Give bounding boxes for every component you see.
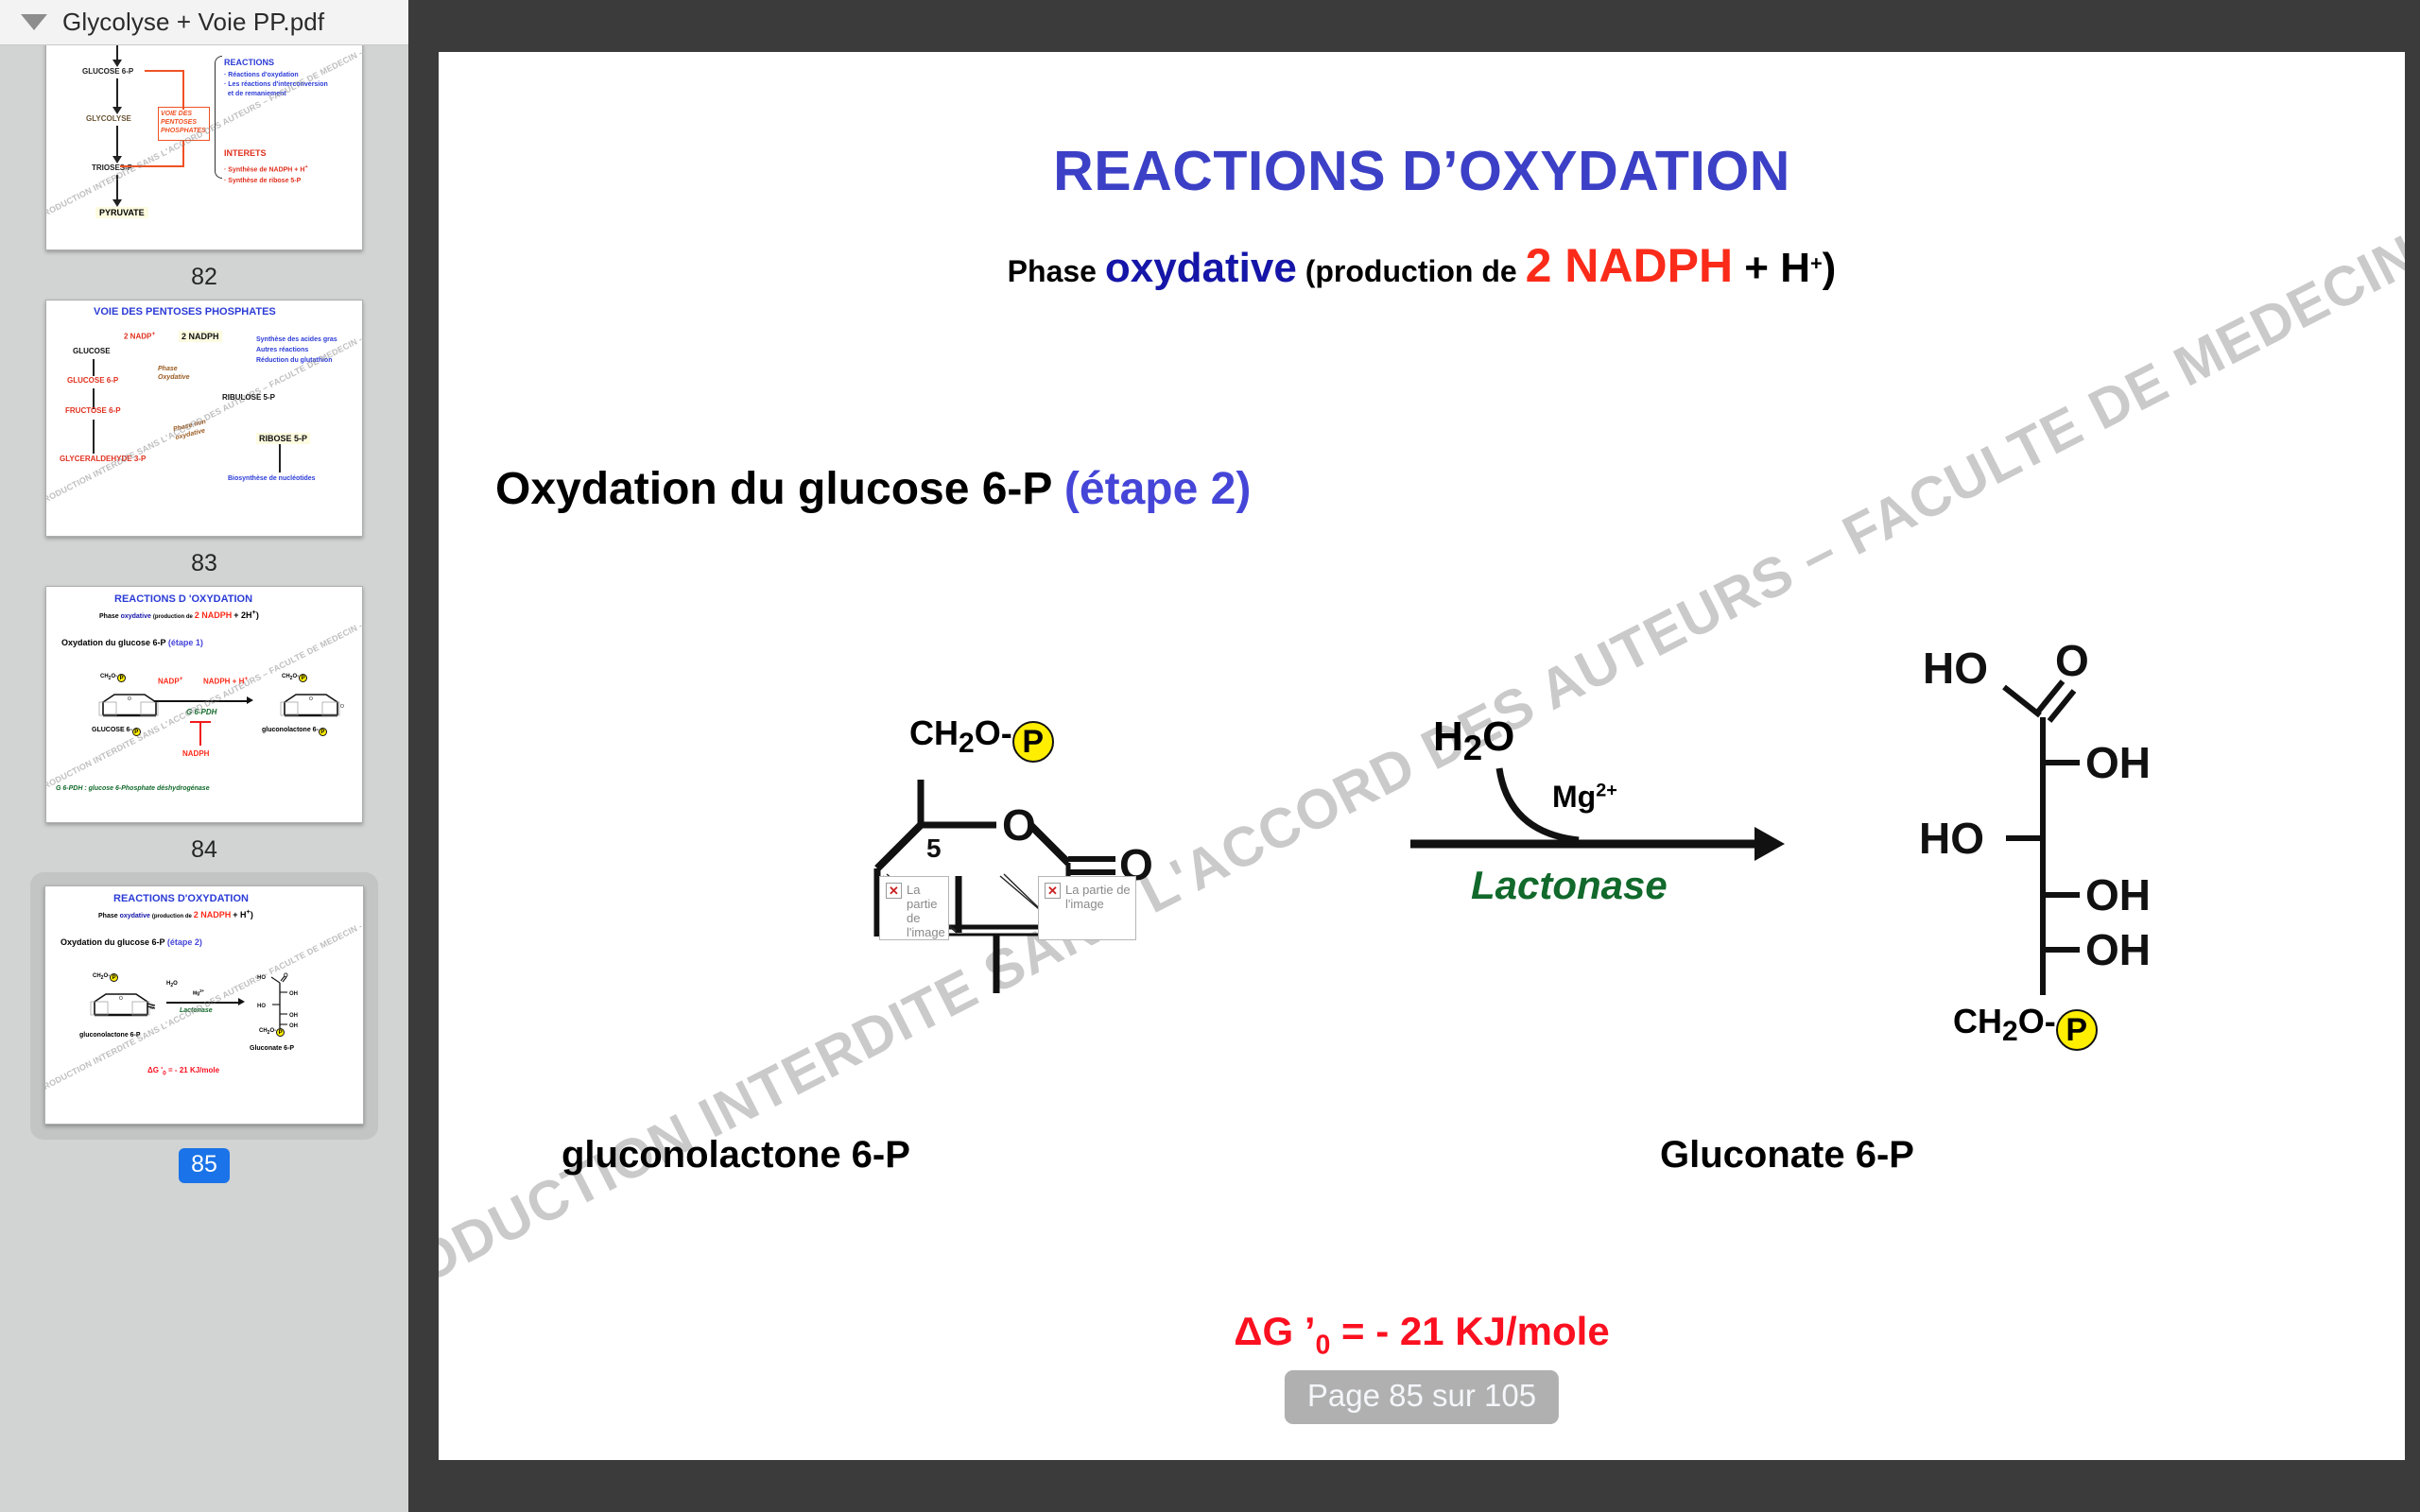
triangle-down-icon[interactable] — [21, 14, 47, 30]
svg-text:HO: HO — [257, 975, 266, 981]
ch2o-phosphate-label-left: CH2O-P — [909, 713, 1054, 763]
enzyme-label: Lactonase — [1471, 863, 1668, 908]
caption-gluconolactone: gluconolactone 6-P — [562, 1134, 910, 1177]
svg-text:O: O — [128, 696, 131, 702]
svg-text:O: O — [119, 996, 123, 1002]
mini-slide-83: VOIE DES PENTOSES PHOSPHATES 2 NADP+ 2 N… — [46, 301, 362, 536]
thumbnail-page-number: 82 — [0, 250, 408, 300]
thumbnail-sidebar[interactable]: Glycolyse + Voie PP.pdf GLUCOSE GLUCOSE … — [0, 0, 408, 1512]
arrow-svg — [1393, 759, 1885, 948]
thumbnail-page-83[interactable]: VOIE DES PENTOSES PHOSPHATES 2 NADP+ 2 N… — [45, 300, 363, 537]
pdf-viewer-window: Glycolyse + Voie PP.pdf GLUCOSE GLUCOSE … — [0, 0, 2420, 1512]
thumbnail-page-85-selected[interactable]: REACTIONS D'OXYDATION Phase oxydative (p… — [30, 872, 378, 1140]
broken-image-text: La partie de l'image — [1065, 883, 1131, 911]
svg-text:OH: OH — [289, 1013, 298, 1019]
ch2-text: CH — [909, 713, 959, 752]
svg-text:O: O — [309, 696, 313, 702]
subtitle-nadph: 2 NADPH — [1526, 239, 1733, 292]
thumbnail-item-83[interactable]: VOIE DES PENTOSES PHOSPHATES 2 NADP+ 2 N… — [0, 300, 408, 586]
broken-image-icon: ✕ — [1045, 883, 1061, 899]
document-title: Glycolyse + Voie PP.pdf — [62, 8, 324, 37]
svg-text:OH: OH — [2085, 870, 2151, 919]
reaction-arrow-group: H2O Mg2+ Lactonase — [1393, 713, 1885, 1054]
sidebar-titlebar: Glycolyse + Voie PP.pdf — [0, 0, 408, 45]
svg-text:O: O — [2055, 638, 2089, 685]
thumbnail-page-82[interactable]: GLUCOSE GLUCOSE 6-P GLYCOLYSE TRIOSES-P — [45, 13, 363, 250]
thumbnail-page-number: 84 — [0, 823, 408, 872]
gluconate-fischer-svg: HO O OH HO OH OH — [1913, 638, 2329, 1054]
delta-g-rest: = - 21 KJ/mole — [1330, 1309, 1609, 1353]
main-viewer-area[interactable]: REPRODUCTION INTERDITE SANS L'ACCORD DES… — [423, 0, 2420, 1512]
svg-text:HO: HO — [1919, 814, 1984, 863]
svg-text:OH: OH — [289, 991, 298, 997]
delta-g-value: ΔG ’0 = - 21 KJ/mole — [439, 1309, 2405, 1361]
broken-image-placeholder-left: ✕ La partie de l'image — [879, 876, 949, 940]
broken-image-icon: ✕ — [886, 883, 902, 899]
o-dash-text: O- — [2018, 1002, 2056, 1040]
subtitle-close-paren: ) — [1823, 245, 1837, 291]
ch2o-phosphate-label-right: CH2O-P — [1953, 1002, 2098, 1051]
svg-text:HO: HO — [1923, 644, 1988, 693]
subtitle-part-production: (production de — [1297, 254, 1526, 288]
pdf-page-85: REPRODUCTION INTERDITE SANS L'ACCORD DES… — [439, 52, 2405, 1460]
mini-slide-85: REACTIONS D'OXYDATION Phase oxydative (p… — [45, 886, 363, 1124]
subtitle-part-phase: Phase — [1008, 254, 1105, 288]
thumbnail-item-85[interactable]: REACTIONS D'OXYDATION Phase oxydative (p… — [0, 872, 408, 1189]
selected-page-badge: 85 — [179, 1148, 230, 1183]
thumbnail-item-82[interactable]: GLUCOSE GLUCOSE 6-P GLYCOLYSE TRIOSES-P — [0, 13, 408, 300]
slide-title: REACTIONS D’OXYDATION — [439, 139, 2405, 203]
svg-text:O: O — [1002, 800, 1036, 850]
section-heading-step: (étape 2) — [1064, 464, 1251, 514]
sidebar-divider[interactable] — [408, 0, 423, 1512]
gluconolactone-structure: CH2O-P — [845, 713, 1337, 1110]
section-heading: Oxydation du glucose 6-P (étape 2) — [495, 463, 1251, 515]
thumbnail-page-number-selected: 85 — [0, 1140, 408, 1189]
svg-text:5: 5 — [926, 833, 942, 863]
subtitle-hplus: + H — [1733, 245, 1810, 291]
h-text: H — [1433, 713, 1463, 760]
mini-slide-84: REACTIONS D 'OXYDATION Phase oxydative (… — [46, 587, 362, 822]
subtitle-plus-superscript: + — [1810, 250, 1823, 274]
thumbnail-page-84[interactable]: REACTIONS D 'OXYDATION Phase oxydative (… — [45, 586, 363, 823]
mini-slide-82: GLUCOSE GLUCOSE 6-P GLYCOLYSE TRIOSES-P — [46, 14, 362, 249]
svg-text:HO: HO — [257, 1004, 266, 1009]
thumbnail-page-number: 83 — [0, 537, 408, 586]
gluconate-structure: HO O OH HO OH OH CH2O-P — [1913, 638, 2329, 1054]
section-heading-main: Oxydation du glucose 6-P — [495, 464, 1064, 514]
svg-text:OH: OH — [2085, 738, 2151, 787]
svg-text:OH: OH — [289, 1023, 298, 1029]
svg-text:OH: OH — [2085, 925, 2151, 974]
svg-text:O: O — [340, 704, 344, 710]
delta-g-prefix: ΔG ’ — [1234, 1309, 1315, 1353]
phosphate-icon: P — [2056, 1009, 2098, 1051]
o-text: O — [1482, 713, 1514, 760]
o-dash-text: O- — [975, 713, 1012, 752]
thumbnail-item-84[interactable]: REACTIONS D 'OXYDATION Phase oxydative (… — [0, 586, 408, 872]
page-indicator: Page 85 sur 105 — [1285, 1370, 1559, 1424]
delta-g-subscript: 0 — [1316, 1330, 1331, 1360]
broken-image-text: La partie de l'image — [907, 883, 945, 939]
slide-subtitle: Phase oxydative (production de 2 NADPH +… — [439, 238, 2405, 293]
broken-image-placeholder-right: ✕ La partie de l'image — [1038, 876, 1136, 940]
subtitle-oxydative: oxydative — [1105, 245, 1297, 291]
ch2-subscript: 2 — [2002, 1016, 2018, 1047]
caption-gluconate: Gluconate 6-P — [1660, 1134, 1914, 1177]
ch2-subscript: 2 — [959, 728, 975, 759]
ch2-text: CH — [1953, 1002, 2002, 1040]
thumbnail-list[interactable]: GLUCOSE GLUCOSE 6-P GLYCOLYSE TRIOSES-P — [0, 0, 408, 1512]
